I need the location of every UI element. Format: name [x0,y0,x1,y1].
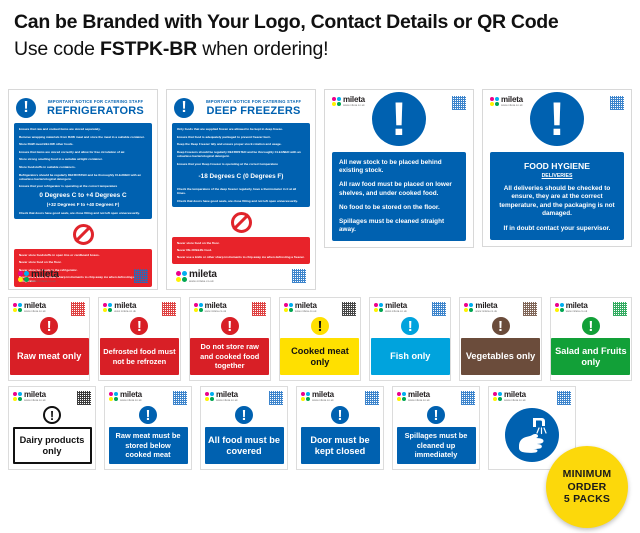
poster-point: Store RAW meat BELOW other foods. [19,142,147,146]
sign-fish-only[interactable]: miletawww.mileta.co.uk!Fish only [369,297,451,381]
poster-body: All deliveries should be checked to ensu… [497,185,617,219]
sign-salad-and-fruits-only[interactable]: miletawww.mileta.co.uk!Salad and Fruits … [550,297,632,381]
sign-header: miletawww.mileta.co.uk [194,302,266,316]
sign-header: miletawww.mileta.co.uk [397,391,475,405]
sign-label: Dairy products only [13,427,92,464]
mileta-mark-icon [284,303,293,312]
brand-name: mileta [114,302,136,310]
sign-label: Vegetables only [461,338,540,375]
poster-blue-panel: FOOD HYGIENE DELIVERIES All deliveries s… [490,152,624,240]
mileta-mark-icon [194,303,203,312]
mileta-mark-icon [109,392,118,401]
exclamation-icon: ! [492,317,510,335]
poster-food-hygiene-deliveries[interactable]: mileta www.mileta.co.uk ! FOOD HYGIENE D… [482,89,632,247]
poster-stock-rules[interactable]: mileta www.mileta.co.uk ! All new stock … [324,89,474,248]
qr-code-icon[interactable] [365,391,379,405]
brand-name: mileta [295,302,317,310]
poster-title: REFRIGERATORS [41,105,150,117]
sign-door-must-be-kept-closed[interactable]: miletawww.mileta.co.uk!Door must be kept… [296,386,384,470]
brand-tagline: www.mileta.co.uk [312,400,334,403]
sign-header: miletawww.mileta.co.uk [109,391,187,405]
brand-tagline: www.mileta.co.uk [189,280,217,283]
sign-dairy-products-only[interactable]: miletawww.mileta.co.uk!Dairy products on… [8,386,96,470]
exclamation-icon: ! [427,406,445,424]
poster-blue-panel: Ensure that raw and cooked items are sto… [14,123,152,219]
mileta-logo: miletawww.mileta.co.uk [13,391,46,402]
qr-code-icon[interactable] [134,269,148,283]
poster-titles: IMPORTANT NOTICE FOR CATERING STAFF DEEP… [199,99,308,117]
poster-temperature-celsius: 0 Degrees C to +4 Degrees C [19,192,147,200]
brand-tagline: www.mileta.co.uk [24,311,46,314]
sign-label: All food must be covered [205,427,284,464]
mileta-mark-icon [490,97,499,106]
brand-tagline: www.mileta.co.uk [31,280,59,283]
sign-header: miletawww.mileta.co.uk [493,391,571,405]
mileta-logo: miletawww.mileta.co.uk [205,391,238,402]
poster-warning: Never RE-FREEZE food. [177,248,305,252]
sign-header: miletawww.mileta.co.uk [464,302,536,316]
brand-name: mileta [312,391,334,399]
prohibition-icon [231,212,252,233]
mileta-logo: miletawww.mileta.co.uk [103,302,136,313]
brand-tagline: www.mileta.co.uk [408,400,430,403]
poster-point: Keep the Deep Freezer tidy and ensure pr… [177,142,305,146]
qr-code-icon[interactable] [292,269,306,283]
sign-label: Door must be kept closed [301,427,380,464]
brand-name: mileta [24,391,46,399]
mileta-logo: miletawww.mileta.co.uk [464,302,497,313]
exclamation-icon: ! [401,317,419,335]
brand-name: mileta [343,96,365,104]
brand-tagline: www.mileta.co.uk [475,311,497,314]
badge-line-1: MINIMUM [563,468,612,481]
poster-warning: Never use a knife or other sharp instrum… [177,255,305,259]
sign-label: Spillages must be cleaned up immediately [397,427,476,464]
brand-tagline: www.mileta.co.uk [216,400,238,403]
sign-label: Cooked meat only [280,338,359,375]
mileta-logo: mileta www.mileta.co.uk [18,270,59,284]
mileta-mark-icon [13,392,22,401]
headline-line-1: Can be Branded with Your Logo, Contact D… [14,10,640,35]
mileta-logo: mileta www.mileta.co.uk [490,96,523,107]
mileta-mark-icon [301,392,310,401]
sign-grid-row-2: miletawww.mileta.co.uk!Dairy products on… [8,386,632,470]
poster-subheading: DELIVERIES [497,173,617,179]
headline-suffix: when ordering! [197,38,328,60]
sign-label: Salad and Fruits only [551,338,630,375]
qr-code-icon[interactable] [173,391,187,405]
poster-row: ! IMPORTANT NOTICE FOR CATERING STAFF RE… [8,89,632,290]
poster-point: Deep Freezers should be regularly DEFROS… [177,150,305,158]
sign-header: miletawww.mileta.co.uk [13,302,85,316]
exclamation-icon: ! [40,317,58,335]
sign-cooked-meat-only[interactable]: miletawww.mileta.co.uk!Cooked meat only [279,297,361,381]
exclamation-icon: ! [130,317,148,335]
mileta-mark-icon [374,303,383,312]
poster-header: ! IMPORTANT NOTICE FOR CATERING STAFF DE… [172,95,310,120]
exclamation-icon: ! [139,406,157,424]
poster-point: Ensure that items are stored correctly a… [19,150,147,154]
mileta-logo: mileta www.mileta.co.uk [332,96,365,107]
poster-header: ! IMPORTANT NOTICE FOR CATERING STAFF RE… [14,95,152,120]
brand-name: mileta [31,270,59,280]
poster-body-secondary: If in doubt contact your supervisor. [497,225,617,233]
brand-name: mileta [385,302,407,310]
poster-warning: Never store food on the floor. [19,260,147,264]
brand-tagline: www.mileta.co.uk [205,311,227,314]
qr-code-icon[interactable] [77,391,91,405]
mileta-logo: miletawww.mileta.co.uk [397,391,430,402]
mileta-mark-icon [332,97,341,106]
headline-prefix: Use code [14,38,100,60]
sign-header: miletawww.mileta.co.uk [374,302,446,316]
exclamation-icon: ! [331,406,349,424]
qr-code-icon[interactable] [523,302,537,316]
poster-refrigerators[interactable]: ! IMPORTANT NOTICE FOR CATERING STAFF RE… [8,89,158,290]
sign-label: Raw meat must be stored below cooked mea… [109,427,188,464]
headline-line-2: Use code FSTPK-BR when ordering! [14,36,640,62]
sign-header: miletawww.mileta.co.uk [301,391,379,405]
mileta-logo: miletawww.mileta.co.uk [301,391,334,402]
poster-notice-label: IMPORTANT NOTICE FOR CATERING STAFF [41,99,150,104]
poster-paragraph: All new stock to be placed behind existi… [339,159,459,175]
mileta-mark-icon [555,303,564,312]
mileta-mark-icon [205,392,214,401]
brand-name: mileta [566,302,588,310]
mileta-mark-icon [397,392,406,401]
sign-all-food-must-be-covered[interactable]: miletawww.mileta.co.uk!All food must be … [200,386,288,470]
brand-name: mileta [205,302,227,310]
exclamation-icon: ! [582,317,600,335]
sign-header: miletawww.mileta.co.uk [13,391,91,405]
poster-red-panel: Never store food on the floor. Never RE-… [172,237,310,264]
brand-tagline: www.mileta.co.uk [295,311,317,314]
mileta-logo: miletawww.mileta.co.uk [284,302,317,313]
sign-header: miletawww.mileta.co.uk [555,302,627,316]
poster-paragraph: All raw food must be placed on lower she… [339,181,459,197]
poster-paragraph: No food to be stored on the floor. [339,204,459,212]
poster-temperature-fahrenheit: (+32 Degrees F to +40 Degrees F) [19,202,147,207]
poster-footer: mileta www.mileta.co.uk [18,269,148,283]
brand-tagline: www.mileta.co.uk [385,311,407,314]
brand-name: mileta [501,96,523,104]
sign-vegetables-only[interactable]: miletawww.mileta.co.uk!Vegetables only [459,297,541,381]
brand-tagline: www.mileta.co.uk [501,105,523,108]
qr-code-icon[interactable] [613,302,627,316]
sign-label: Raw meat only [10,338,89,375]
prohibition-icon [73,224,94,245]
poster-point: Store foodstuffs in suitable containers. [19,165,147,169]
page-title: Can be Branded with Your Logo, Contact D… [0,0,640,62]
promo-code: FSTPK-BR [100,38,197,60]
poster-point: Check that doors have good seals, are cl… [19,211,147,215]
mileta-logo: miletawww.mileta.co.uk [109,391,142,402]
poster-blue-panel: All new stock to be placed behind existi… [332,152,466,241]
poster-point: Ensure that your Deep Freezer is operati… [177,162,305,166]
mileta-mark-icon [176,271,187,282]
brand-tagline: www.mileta.co.uk [114,311,136,314]
badge-line-2: ORDER [568,481,607,494]
poster-point: Refrigerators should be regularly DEFROS… [19,173,147,181]
poster-paragraph: Spillages must be cleaned straight away. [339,218,459,234]
sign-do-not-store-raw-and-cooked-food-together[interactable]: miletawww.mileta.co.uk!Do not store raw … [189,297,271,381]
qr-code-icon[interactable] [452,96,466,110]
poster-heading: FOOD HYGIENE [497,161,617,171]
brand-name: mileta [216,391,238,399]
sign-defrosted-food-must-not-be-refrozen[interactable]: miletawww.mileta.co.uk!Defrosted food mu… [98,297,180,381]
poster-blue-panel: Only foods that are supplied frozen are … [172,123,310,207]
minimum-order-badge: MINIMUM ORDER 5 PACKS [546,446,628,528]
sign-label: Do not store raw and cooked food togethe… [190,338,269,375]
poster-point: Ensure that food is adequately packaged … [177,135,305,139]
poster-point: Check that doors have good seals, are cl… [177,199,305,203]
brand-name: mileta [24,302,46,310]
brand-tagline: www.mileta.co.uk [343,105,365,108]
sign-header: miletawww.mileta.co.uk [103,302,175,316]
brand-name: mileta [475,302,497,310]
poster-point: Only foods that are supplied frozen are … [177,127,305,131]
product-page: Can be Branded with Your Logo, Contact D… [0,0,640,533]
qr-code-icon[interactable] [269,391,283,405]
exclamation-icon: ! [235,406,253,424]
sign-header: miletawww.mileta.co.uk [284,302,356,316]
brand-name: mileta [189,270,217,280]
exclamation-icon: ! [221,317,239,335]
qr-code-icon[interactable] [557,391,571,405]
mileta-logo: miletawww.mileta.co.uk [555,302,588,313]
poster-warning: Never store food on the floor. [177,241,305,245]
poster-deep-freezers[interactable]: ! IMPORTANT NOTICE FOR CATERING STAFF DE… [166,89,316,290]
exclamation-icon: ! [16,98,36,118]
brand-name: mileta [120,391,142,399]
brand-name: mileta [504,391,526,399]
brand-tagline: www.mileta.co.uk [120,400,142,403]
qr-code-icon[interactable] [432,302,446,316]
poster-notice-label: IMPORTANT NOTICE FOR CATERING STAFF [199,99,308,104]
exclamation-icon: ! [530,92,584,146]
mileta-logo: miletawww.mileta.co.uk [493,391,526,402]
poster-point: Ensure that raw and cooked items are sto… [19,127,147,131]
poster-point: Remove wrapping materials from RAW meat … [19,135,147,139]
poster-point: Store strong smelling food in a suitable… [19,157,147,161]
sign-grid-row-1: miletawww.mileta.co.uk!Raw meat onlymile… [8,297,632,381]
poster-point: Ensure that your refrigerator is operati… [19,184,147,188]
mileta-mark-icon [13,303,22,312]
mileta-mark-icon [464,303,473,312]
mileta-logo: mileta www.mileta.co.uk [176,270,217,284]
brand-tagline: www.mileta.co.uk [24,400,46,403]
qr-code-icon[interactable] [71,302,85,316]
poster-point: Check the temperature of the deep freeze… [177,187,305,195]
sign-label: Fish only [371,338,450,375]
brand-name: mileta [408,391,430,399]
mileta-mark-icon [18,271,29,282]
poster-temperature-celsius: -18 Degrees C (0 Degrees F) [177,173,305,181]
qr-code-icon[interactable] [342,302,356,316]
mileta-logo: miletawww.mileta.co.uk [13,302,46,313]
qr-code-icon[interactable] [610,96,624,110]
qr-code-icon[interactable] [252,302,266,316]
exclamation-icon: ! [372,92,426,146]
sign-raw-meat-only[interactable]: miletawww.mileta.co.uk!Raw meat only [8,297,90,381]
mileta-logo: miletawww.mileta.co.uk [194,302,227,313]
qr-code-icon[interactable] [461,391,475,405]
poster-title: DEEP FREEZERS [199,105,308,117]
exclamation-icon: ! [43,406,61,424]
mileta-logo: miletawww.mileta.co.uk [374,302,407,313]
mileta-mark-icon [103,303,112,312]
sign-spillages-must-be-cleaned-up-immediately[interactable]: miletawww.mileta.co.uk!Spillages must be… [392,386,480,470]
mileta-mark-icon [493,392,502,401]
sign-raw-meat-must-be-stored-below-cooked-meat[interactable]: miletawww.mileta.co.uk!Raw meat must be … [104,386,192,470]
exclamation-icon: ! [174,98,194,118]
poster-warning: Never store foodstuffs in open tins or c… [19,253,147,257]
badge-line-3: 5 PACKS [564,493,610,506]
sign-label: Defrosted food must not be refrozen [100,338,179,375]
brand-tagline: www.mileta.co.uk [504,400,526,403]
brand-tagline: www.mileta.co.uk [566,311,588,314]
exclamation-icon: ! [311,317,329,335]
hand-wash-icon [505,408,559,462]
qr-code-icon[interactable] [162,302,176,316]
sign-header: miletawww.mileta.co.uk [205,391,283,405]
poster-titles: IMPORTANT NOTICE FOR CATERING STAFF REFR… [41,99,150,117]
poster-footer: mileta www.mileta.co.uk [176,269,306,283]
